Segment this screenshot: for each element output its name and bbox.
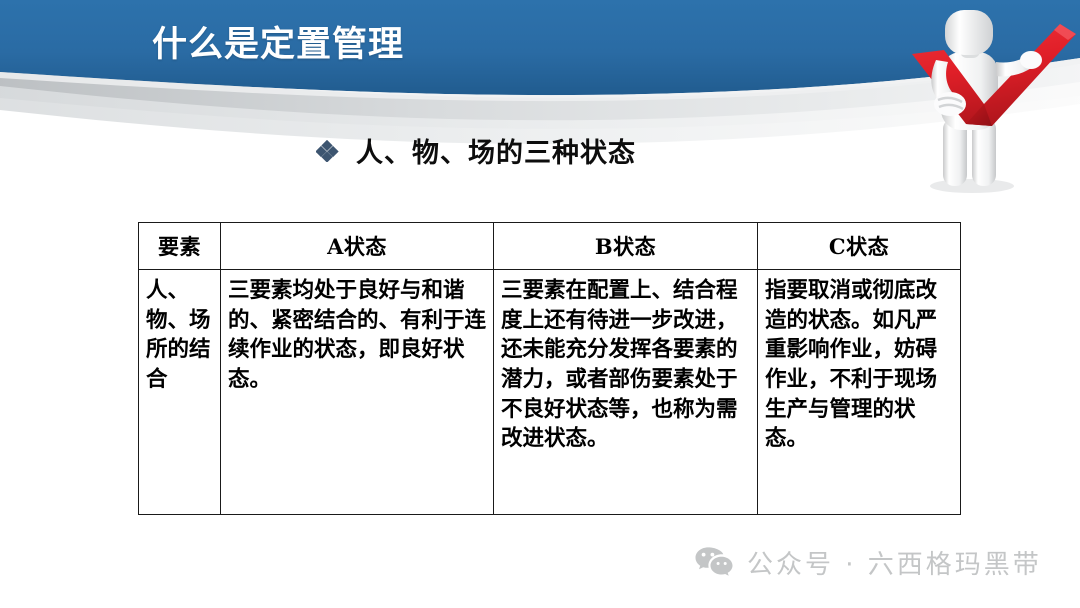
column-header-state-a: A状态 bbox=[221, 223, 494, 270]
column-header-factor: 要素 bbox=[139, 223, 221, 270]
cell-state-a: 三要素均处于良好与和谐的、紧密结合的、有利于连续作业的状态，即良好状态。 bbox=[221, 270, 494, 515]
slide-title: 什么是定置管理 bbox=[152, 16, 404, 67]
subtitle-text: 人、物、场的三种状态 bbox=[356, 131, 636, 170]
table-row: 人、物、场所的结合 三要素均处于良好与和谐的、紧密结合的、有利于连续作业的状态，… bbox=[139, 270, 961, 515]
column-header-state-c: C状态 bbox=[758, 223, 961, 270]
cell-state-c: 指要取消或彻底改造的状态。如凡严重影响作业，妨碍作业，不利于现场生产与管理的状态… bbox=[758, 270, 961, 515]
cell-factor: 人、物、场所的结合 bbox=[139, 270, 221, 515]
mannequin-holding-red-checkmark-icon bbox=[900, 0, 1080, 200]
state-comparison-table: 要素 A状态 B状态 C状态 人、物、场所的结合 三要素均处于良好与和谐的、紧密… bbox=[138, 222, 961, 515]
footer-watermark: 公众号 · 六西格玛黑带 bbox=[694, 544, 1042, 581]
table-header-row: 要素 A状态 B状态 C状态 bbox=[139, 223, 961, 270]
footer-watermark-text: 公众号 · 六西格玛黑带 bbox=[747, 544, 1042, 581]
column-header-state-b: B状态 bbox=[494, 223, 758, 270]
cell-state-b: 三要素在配置上、结合程度上还有待进一步改进，还未能充分发挥各要素的潜力，或者部伤… bbox=[494, 270, 758, 515]
slide-canvas: 什么是定置管理 bbox=[0, 0, 1080, 608]
subtitle-row: 人、物、场的三种状态 bbox=[316, 131, 636, 170]
wechat-icon bbox=[694, 546, 734, 580]
diamond-cluster-bullet-icon bbox=[316, 140, 342, 162]
